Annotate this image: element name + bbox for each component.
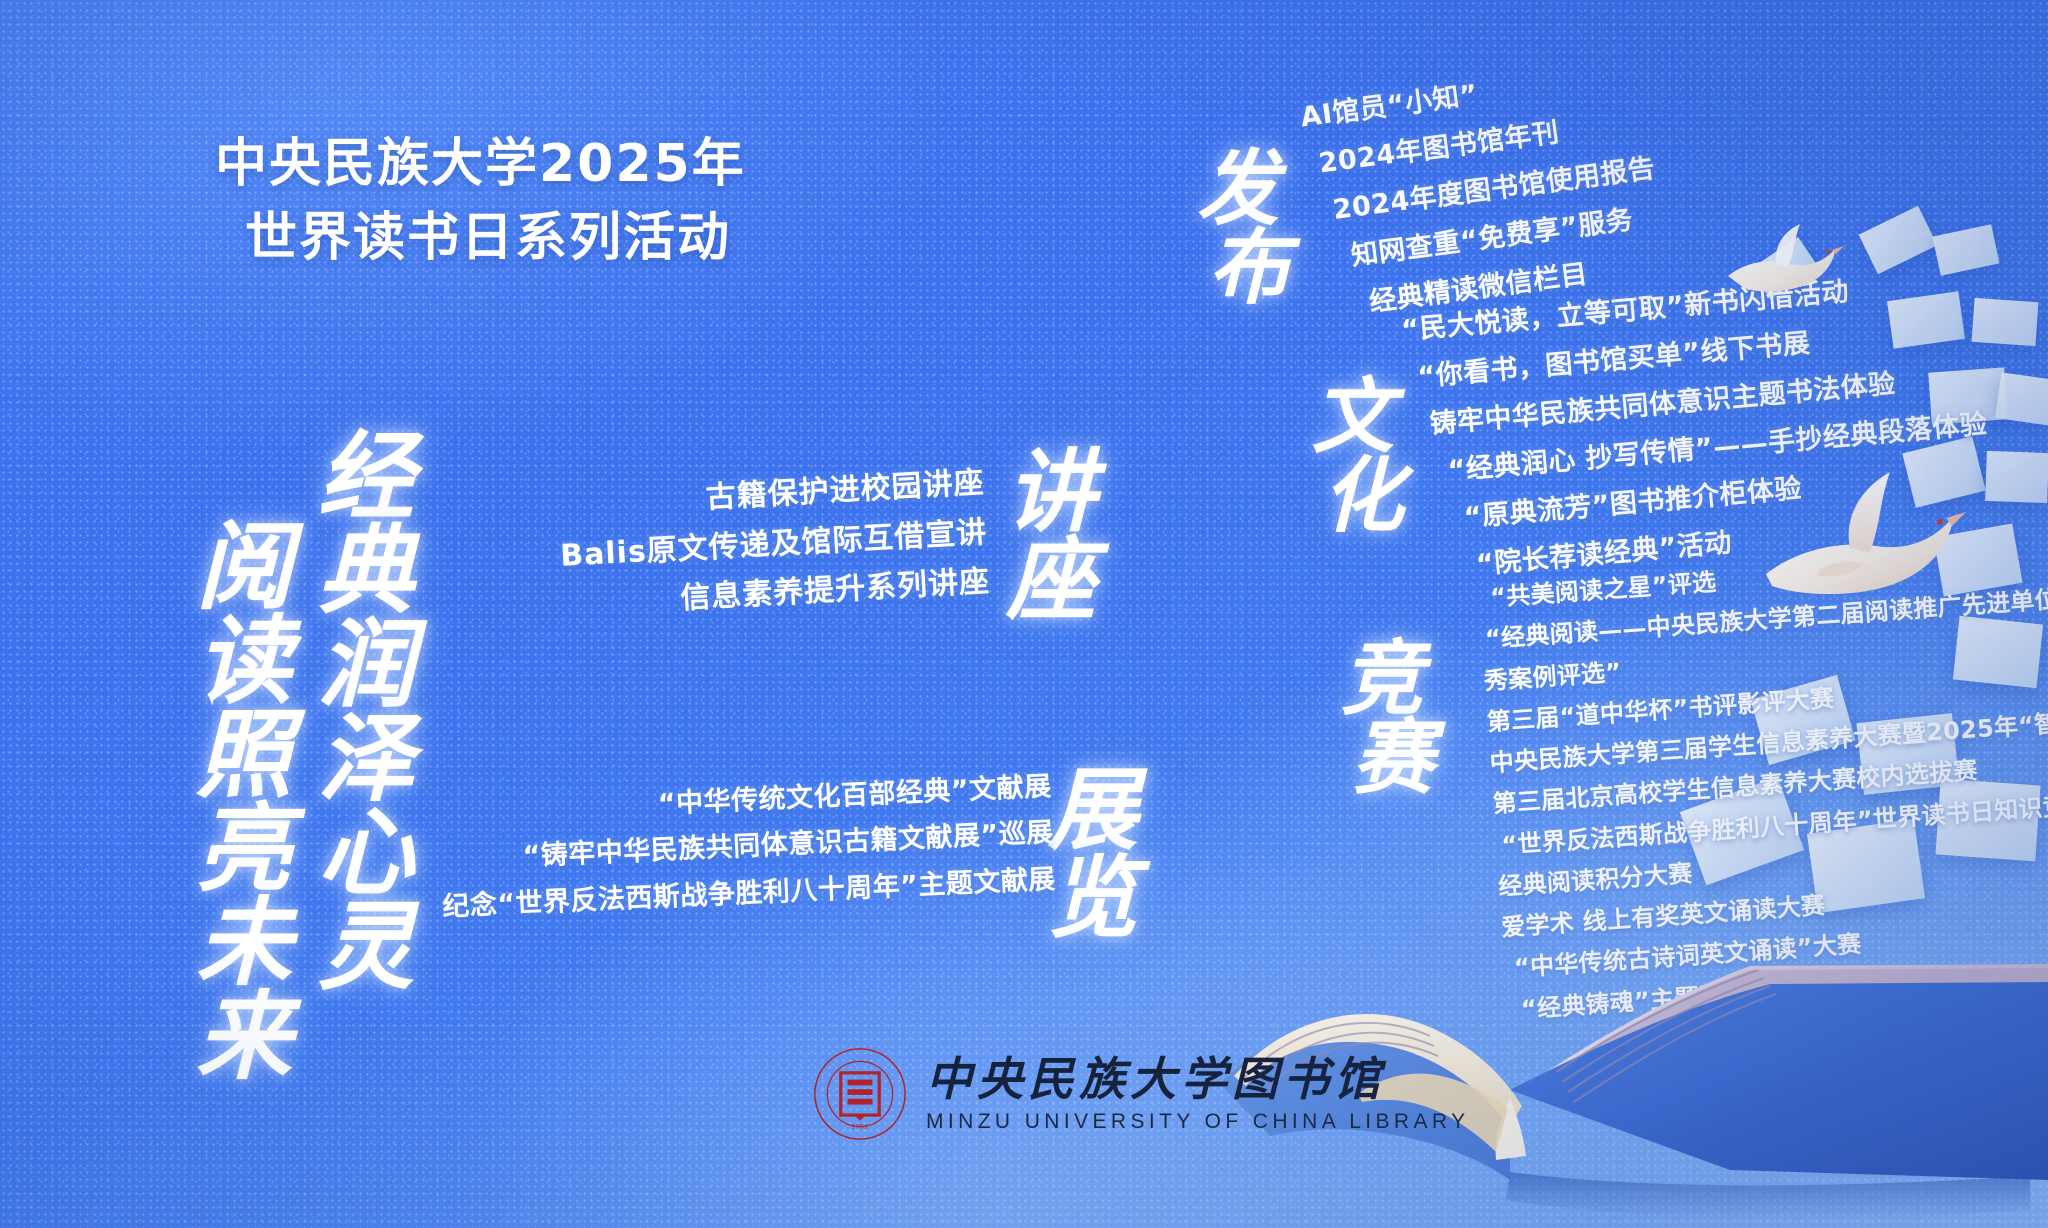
slogan-char: 灵 [318,900,414,994]
section-heading-publish: 发 布 [1186,150,1290,307]
section-heading-lectures: 讲 座 [1006,448,1096,624]
heading-char: 览 [1048,854,1138,942]
slogan-char: 经 [318,430,414,524]
logo-name-cn: 中央民族大学图书馆 [926,1054,1470,1105]
section-list-lectures: 古籍保护进校园讲座 Balis原文传递及馆际互借宣讲 信息素养提升系列讲座 [556,458,991,630]
slogan-char: 心 [318,806,414,900]
section-heading-exhibitions: 展 览 [1048,766,1138,942]
slogan-char: 读 [196,614,292,708]
svg-text:1951: 1951 [852,1124,869,1131]
heading-char: 座 [1006,536,1096,624]
flying-page [1995,372,2048,425]
slogan-char: 润 [318,618,414,712]
poster-canvas: 中央民族大学2025年 世界读书日系列活动 阅 读 照 亮 未 来 经 典 润 … [0,0,2048,1228]
slogan-char: 典 [318,524,414,618]
slogan-char: 亮 [196,802,292,896]
heading-char: 发 [1186,150,1290,229]
section-heading-culture: 文 化 [1302,378,1404,535]
section-list-exhibitions: “中华传统文化百部经典”文献展 “铸牢中华民族共同体意识古籍文献展”巡展 纪念“… [437,764,1057,931]
flying-page [1985,451,2048,503]
library-logo: 1951 中央民族大学图书馆 MINZU UNIVERSITY OF CHINA… [812,1046,1470,1142]
heading-char: 展 [1048,766,1138,854]
headline-line-2: 世界读书日系列活动 [245,202,746,276]
flying-page [1972,298,2039,346]
slogan-char: 未 [196,896,292,990]
heading-char: 布 [1208,229,1290,308]
heading-char: 赛 [1352,719,1434,798]
heading-char: 文 [1302,378,1404,457]
slogan-char: 阅 [196,520,292,614]
slogan-left-vertical: 阅 读 照 亮 未 来 [196,520,292,1084]
logo-name-en: MINZU UNIVERSITY OF CHINA LIBRARY [926,1110,1470,1134]
university-seal-icon: 1951 [812,1046,908,1142]
dove-icon [1716,218,1846,314]
slogan-char: 照 [196,708,292,802]
page-title: 中央民族大学2025年 世界读书日系列活动 [215,128,746,276]
dove-icon [1758,466,1978,626]
section-heading-contest: 竞 赛 [1330,640,1434,797]
heading-char: 讲 [1006,448,1096,536]
headline-line-1: 中央民族大学2025年 [215,128,746,202]
slogan-char: 来 [196,990,292,1084]
slogan-right-vertical: 经 典 润 泽 心 灵 [318,430,414,994]
heading-char: 化 [1322,457,1404,536]
slogan-char: 泽 [318,712,414,806]
heading-char: 竞 [1330,640,1434,719]
